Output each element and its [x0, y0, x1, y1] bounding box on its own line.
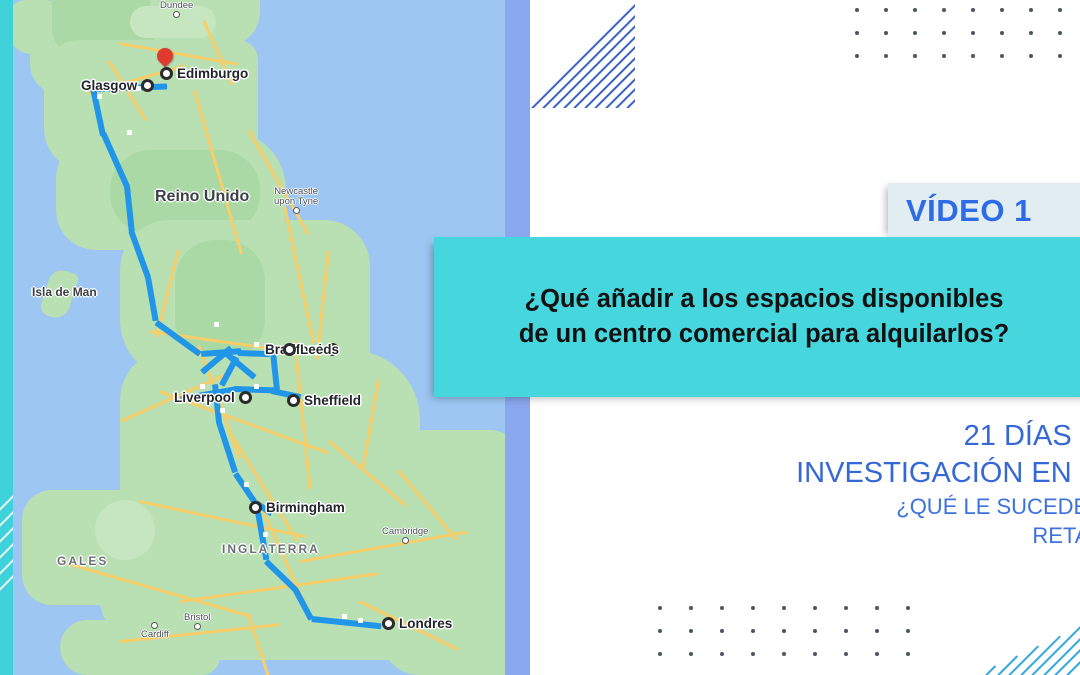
- decorative-dot: [855, 8, 859, 12]
- decorative-dot: [942, 31, 946, 35]
- decorative-dot: [1000, 54, 1004, 58]
- map-label-isla-de-man: Isla de Man: [32, 285, 97, 299]
- decorative-dot: [844, 629, 848, 633]
- decorative-dot: [658, 629, 662, 633]
- map-marker-sheffield[interactable]: Sheffield: [287, 393, 361, 408]
- map-label-gales: GALES: [57, 554, 108, 568]
- marker-ring-icon: [287, 394, 300, 407]
- decorative-dot: [971, 54, 975, 58]
- decorative-dot: [844, 652, 848, 656]
- stripe-line: [1020, 635, 1061, 675]
- decorative-dot: [782, 606, 786, 610]
- route-waypoint: [263, 532, 268, 537]
- decorative-dot: [844, 606, 848, 610]
- route-waypoint: [127, 130, 132, 135]
- decorative-dot: [751, 606, 755, 610]
- map-label-reino-unido: Reino Unido: [155, 188, 249, 206]
- map-land-east-anglia: [380, 430, 520, 610]
- decorative-dot: [884, 54, 888, 58]
- map-label-sheffield: Sheffield: [304, 393, 361, 408]
- headline-sub-line-2: RETAIL?: [560, 521, 1080, 550]
- stripe-line: [985, 665, 996, 675]
- map-label-cardiff: Cardiff: [141, 630, 169, 640]
- marker-ring-icon: [160, 67, 173, 80]
- map-label-dundee: Dundee: [160, 1, 193, 11]
- decorative-dot: [1029, 31, 1033, 35]
- decorative-dot: [689, 652, 693, 656]
- route-waypoint: [254, 384, 259, 389]
- map-marker-londres[interactable]: Londres: [382, 616, 452, 631]
- map-marker-bristol[interactable]: Bristol: [184, 612, 210, 630]
- map-label-inglaterra: INGLATERRA: [222, 542, 320, 556]
- map-marker-dundee[interactable]: Dundee: [160, 0, 193, 18]
- map-label-edimburgo: Edimburgo: [177, 66, 248, 81]
- decorative-dot: [1000, 8, 1004, 12]
- route-waypoint: [342, 614, 347, 619]
- decorative-dot: [658, 606, 662, 610]
- decorative-dot: [906, 652, 910, 656]
- route-waypoint: [200, 384, 205, 389]
- headline-line-2: INVESTIGACIÓN EN UK: [560, 455, 1080, 492]
- decorative-dot: [720, 652, 724, 656]
- marker-ring-icon: [239, 391, 252, 404]
- map-marker-cardiff[interactable]: Cardiff: [141, 622, 169, 640]
- headline-line-1: 21 DÍAS DE: [560, 418, 1080, 455]
- slide-canvas: Edimburgo Glasgow Bradford Leeds Liverpo…: [0, 0, 1080, 675]
- decorative-dot: [884, 31, 888, 35]
- decorative-dot: [1058, 54, 1062, 58]
- map-marker-edimburgo[interactable]: Edimburgo: [160, 66, 248, 81]
- decorative-dot: [782, 652, 786, 656]
- map-label-liverpool: Liverpool: [174, 390, 235, 405]
- marker-dot-icon: [194, 623, 201, 630]
- marker-dot-icon: [402, 537, 409, 544]
- video-badge-label: VÍDEO 1: [888, 193, 1032, 229]
- marker-dot-icon: [151, 622, 158, 629]
- stripe-line: [626, 97, 636, 108]
- decorative-dot: [751, 629, 755, 633]
- route-waypoint: [97, 94, 102, 99]
- decorative-dot: [689, 606, 693, 610]
- decorative-dot: [875, 629, 879, 633]
- marker-ring-icon: [249, 501, 262, 514]
- decorative-dot: [942, 54, 946, 58]
- map-label-cambridge: Cambridge: [382, 527, 428, 537]
- map-label-newcastle: Newcastleupon Tyne: [274, 187, 318, 207]
- map-marker-liverpool[interactable]: Liverpool: [174, 390, 252, 405]
- decorative-dot: [913, 54, 917, 58]
- decorative-dot: [913, 8, 917, 12]
- map-marker-cambridge[interactable]: Cambridge: [382, 526, 428, 544]
- decorative-dot: [1058, 31, 1062, 35]
- left-accent-strip: [0, 0, 13, 675]
- decorative-dot: [689, 629, 693, 633]
- decorative-dot: [942, 8, 946, 12]
- route-waypoint: [358, 618, 363, 623]
- decorative-dot: [971, 31, 975, 35]
- map-marker-leeds[interactable]: Leeds: [283, 342, 339, 357]
- decorative-dot: [1058, 8, 1062, 12]
- dot-grid-bottom: [658, 606, 910, 656]
- decorative-dot: [782, 629, 786, 633]
- diagonal-stripes-top-left: [531, 0, 635, 108]
- headline-block: 21 DÍAS DE INVESTIGACIÓN EN UK ¿QUÉ LE S…: [560, 418, 1080, 550]
- route-waypoint: [244, 482, 249, 487]
- question-line-1: ¿Qué añadir a los espacios disponibles: [525, 282, 1004, 317]
- decorative-dot: [720, 629, 724, 633]
- decorative-dot: [720, 606, 724, 610]
- decorative-dot: [855, 31, 859, 35]
- decorative-dot: [913, 31, 917, 35]
- decorative-dot: [813, 606, 817, 610]
- map-marker-newcastle[interactable]: Newcastleupon Tyne: [274, 186, 318, 214]
- route-waypoint: [220, 408, 225, 413]
- question-line-2: de un centro comercial para alquilarlos?: [519, 317, 1009, 352]
- marker-ring-icon: [283, 343, 296, 356]
- dot-grid-top-right: [855, 8, 1080, 58]
- map-label-glasgow: Glasgow: [81, 78, 137, 93]
- decorative-dot: [855, 54, 859, 58]
- map-land-brecon: [95, 500, 155, 560]
- headline-sub-line-1: ¿QUÉ LE SUCEDE AL: [560, 492, 1080, 521]
- map-label-leeds: Leeds: [300, 342, 339, 357]
- route-waypoint: [214, 322, 219, 327]
- decorative-dot: [1000, 31, 1004, 35]
- decorative-dot: [884, 8, 888, 12]
- marker-ring-icon: [382, 617, 395, 630]
- route-waypoint: [254, 342, 259, 347]
- decorative-dot: [813, 629, 817, 633]
- map-label-bristol: Bristol: [184, 613, 210, 623]
- marker-dot-icon: [173, 11, 180, 18]
- decorative-dot: [875, 652, 879, 656]
- decorative-dot: [1029, 8, 1033, 12]
- decorative-dot: [658, 652, 662, 656]
- decorative-dot: [906, 606, 910, 610]
- marker-ring-icon: [141, 79, 154, 92]
- diagonal-stripes-bottom-right: [985, 596, 1080, 675]
- map-label-birmingham: Birmingham: [266, 500, 345, 515]
- decorative-dot: [751, 652, 755, 656]
- decorative-dot: [1029, 54, 1033, 58]
- question-banner: ¿Qué añadir a los espacios disponibles d…: [434, 237, 1080, 397]
- map-label-londres: Londres: [399, 616, 452, 631]
- marker-dot-icon: [293, 207, 300, 214]
- decorative-dot: [875, 606, 879, 610]
- stripe-line: [563, 34, 636, 108]
- video-badge[interactable]: VÍDEO 1: [888, 183, 1080, 239]
- map-marker-glasgow[interactable]: Glasgow: [81, 78, 154, 93]
- decorative-dot: [906, 629, 910, 633]
- decorative-dot: [971, 8, 975, 12]
- map-marker-birmingham[interactable]: Birmingham: [249, 500, 345, 515]
- stripe-line: [997, 655, 1018, 675]
- stripe-line: [552, 23, 635, 108]
- decorative-dot: [813, 652, 817, 656]
